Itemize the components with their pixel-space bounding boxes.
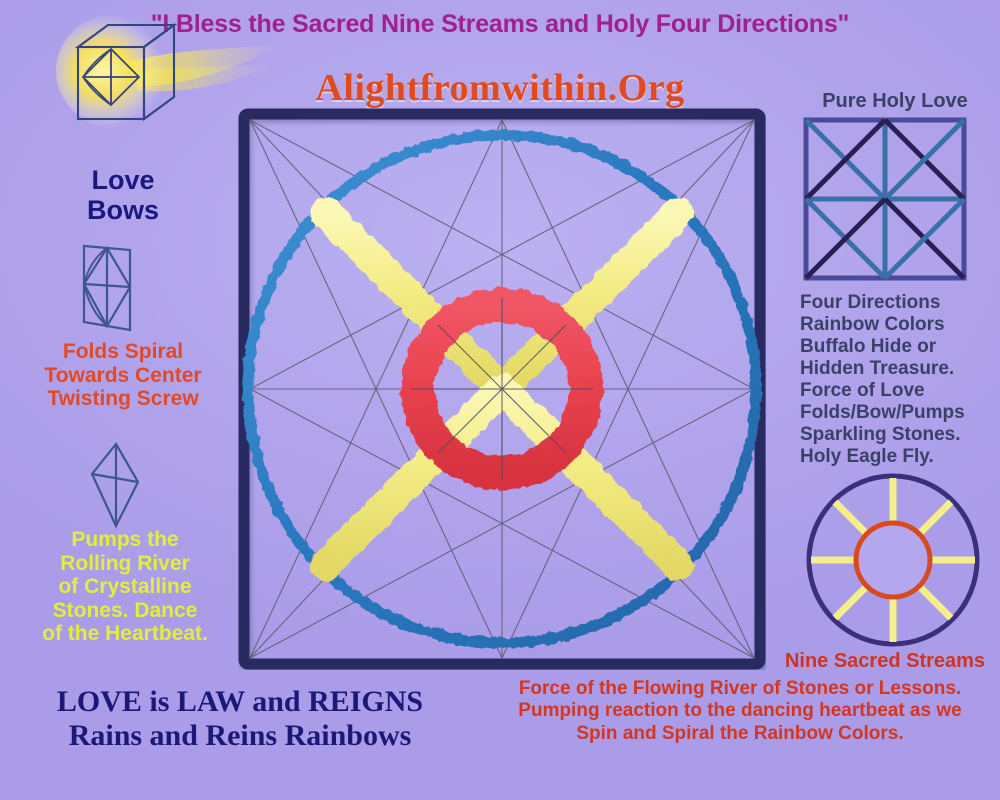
- twisting-screw-diamond-icon: [72, 436, 182, 541]
- four-directions-line-8: Holy Eagle Fly.: [800, 446, 1000, 468]
- pumps-line-1: Pumps the: [12, 528, 238, 552]
- four-directions-line-3: Buffalo Hide or: [800, 336, 1000, 358]
- pumps-line-2: Rolling River: [12, 552, 238, 576]
- four-directions-text: Four Directions Rainbow Colors Buffalo H…: [800, 292, 1000, 468]
- love-bow-parallelogram-icon: [58, 238, 168, 348]
- force-flowing-line-2: Pumping reaction to the dancing heartbea…: [480, 700, 1000, 722]
- folds-spiral-line-2: Towards Center: [8, 364, 238, 388]
- force-flowing-river-text: Force of the Flowing River of Stones or …: [480, 678, 1000, 745]
- sacred-wheel-mandala: [238, 108, 766, 675]
- pumps-line-5: of the Heartbeat.: [12, 622, 238, 646]
- pure-holy-love-label: Pure Holy Love: [795, 90, 995, 113]
- love-is-law-line-1: LOVE is LAW and REIGNS: [10, 685, 470, 719]
- pumps-line-4: Stones. Dance: [12, 599, 238, 623]
- four-directions-line-1: Four Directions: [800, 292, 1000, 314]
- four-directions-line-5: Force of Love: [800, 380, 1000, 402]
- force-flowing-line-3: Spin and Spiral the Rainbow Colors.: [480, 723, 1000, 745]
- four-directions-line-2: Rainbow Colors: [800, 314, 1000, 336]
- love-bows-line-1: Love: [38, 165, 208, 195]
- love-is-law-line-2: Rains and Reins Rainbows: [10, 719, 470, 753]
- pumps-rolling-river-text: Pumps the Rolling River of Crystalline S…: [12, 528, 238, 646]
- love-bows-line-2: Bows: [38, 195, 208, 225]
- nine-streams-wheel-icon: [798, 468, 988, 659]
- poster-canvas: "I Bless the Sacred Nine Streams and Hol…: [0, 0, 1000, 800]
- folds-spiral-line-3: Twisting Screw: [8, 387, 238, 411]
- pumps-line-3: of Crystalline: [12, 575, 238, 599]
- folds-spiral-line-1: Folds Spiral: [8, 340, 238, 364]
- love-bows-label: Love Bows: [38, 165, 208, 225]
- nine-sacred-streams-label: Nine Sacred Streams: [770, 650, 1000, 673]
- folds-spiral-text: Folds Spiral Towards Center Twisting Scr…: [8, 340, 238, 411]
- love-is-law-text: LOVE is LAW and REIGNS Rains and Reins R…: [10, 685, 470, 753]
- wheel-hub: [856, 523, 930, 597]
- force-flowing-line-1: Force of the Flowing River of Stones or …: [480, 678, 1000, 700]
- four-directions-grid-icon: [800, 115, 970, 288]
- four-directions-line-4: Hidden Treasure.: [800, 358, 1000, 380]
- four-directions-line-7: Sparkling Stones.: [800, 424, 1000, 446]
- hub-guide-lines: [411, 298, 593, 480]
- cube-glow: [56, 13, 180, 129]
- four-directions-line-6: Folds/Bow/Pumps: [800, 402, 1000, 424]
